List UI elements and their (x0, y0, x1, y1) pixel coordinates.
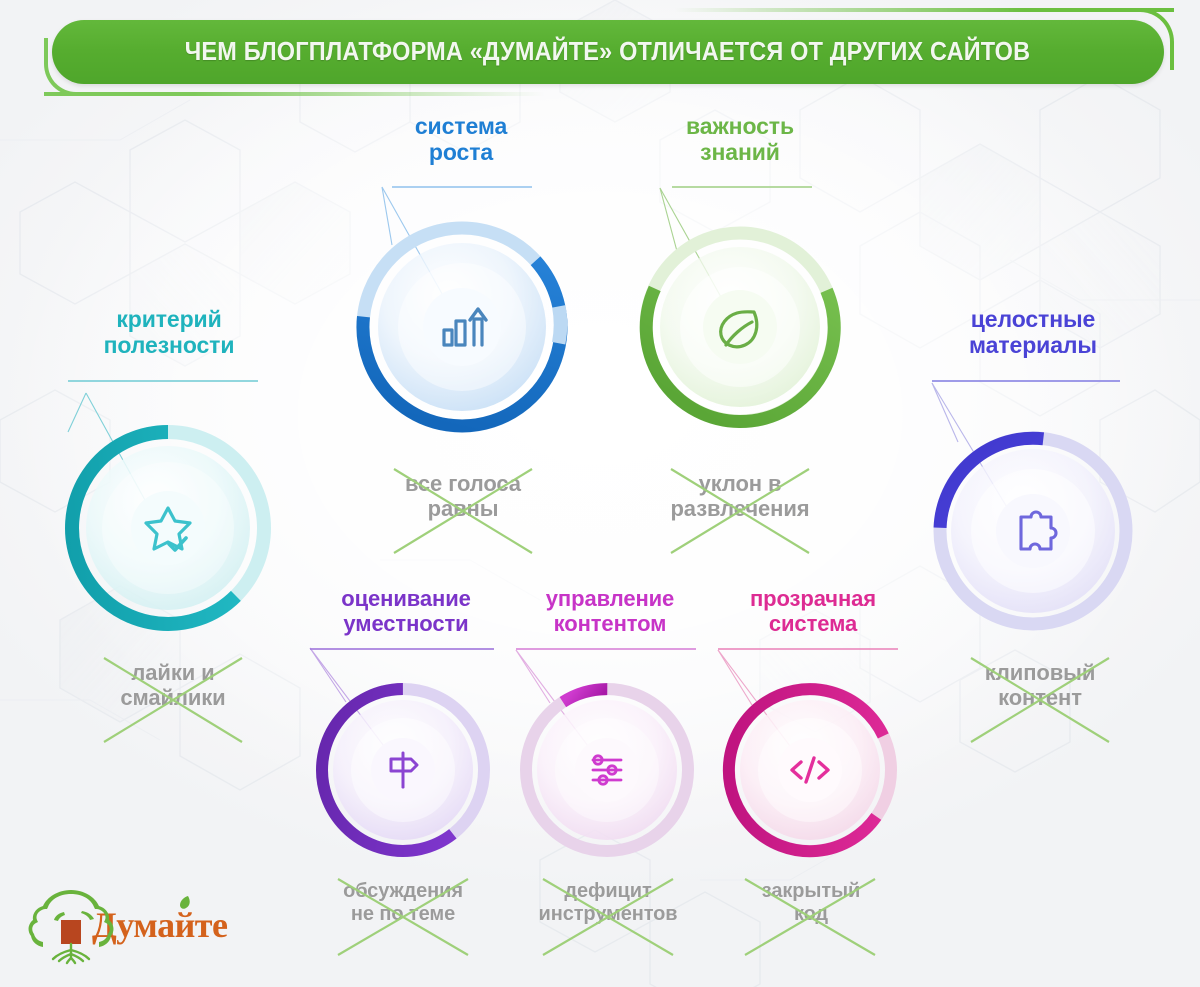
label-wholeness-underline (932, 380, 1120, 382)
donut-wholeness (927, 425, 1139, 637)
label-wholeness-good: целостные материалы (922, 306, 1144, 362)
label-content-control-bad: дефицит инструментов (508, 880, 708, 926)
label-relevance-underline (310, 648, 494, 650)
label-knowledge-underline (672, 186, 812, 188)
label-transparency-good: прозрачная система (708, 586, 918, 640)
label-knowledge-good: важность знаний (634, 113, 846, 169)
label-growth-bad: все голоса равны (367, 471, 559, 521)
label-growth-underline (392, 186, 532, 188)
donut-criterion (56, 416, 280, 640)
label-wholeness-bad: клиповый контент (945, 660, 1135, 710)
label-transparency-underline (718, 648, 898, 650)
page-title: ЧЕМ БЛОГПЛАТФОРМА «ДУМАЙТЕ» ОТЛИЧАЕТСЯ О… (185, 38, 1030, 67)
title-banner: ЧЕМ БЛОГПЛАТФОРМА «ДУМАЙТЕ» ОТЛИЧАЕТСЯ О… (52, 20, 1164, 84)
label-transparency-bad: закрытый код (718, 880, 904, 926)
donut-growth (352, 217, 572, 437)
donut-transparency (727, 687, 893, 853)
infographic-canvas: ЧЕМ БЛОГПЛАТФОРМА «ДУМАЙТЕ» ОТЛИЧАЕТСЯ О… (0, 0, 1200, 987)
label-criterion-bad: лайки и смайлики (78, 660, 268, 710)
brand-logo[interactable]: Думайте (28, 886, 240, 964)
donut-knowledge (636, 223, 844, 431)
label-knowledge-bad: уклон в развлечения (640, 471, 840, 521)
sliders-icon (593, 756, 621, 784)
label-criterion-underline (68, 380, 258, 382)
label-relevance-bad: обсуждения не по теме (310, 880, 496, 926)
label-relevance-good: оценивание уместности (300, 586, 512, 640)
label-criterion-good: критерий полезности (58, 306, 280, 362)
label-content-control-good: управление контентом (505, 586, 715, 640)
label-content-control-underline (516, 648, 696, 650)
header: ЧЕМ БЛОГПЛАТФОРМА «ДУМАЙТЕ» ОТЛИЧАЕТСЯ О… (0, 0, 1200, 104)
logo-leaf-accent (176, 894, 194, 914)
header-frame-bottom-line (44, 92, 544, 96)
tree-logo-icon (28, 882, 114, 968)
donut-relevance (320, 687, 486, 853)
donut-content-control (524, 687, 690, 853)
label-growth-good: система роста (355, 113, 567, 169)
header-frame-top-line (674, 8, 1174, 12)
